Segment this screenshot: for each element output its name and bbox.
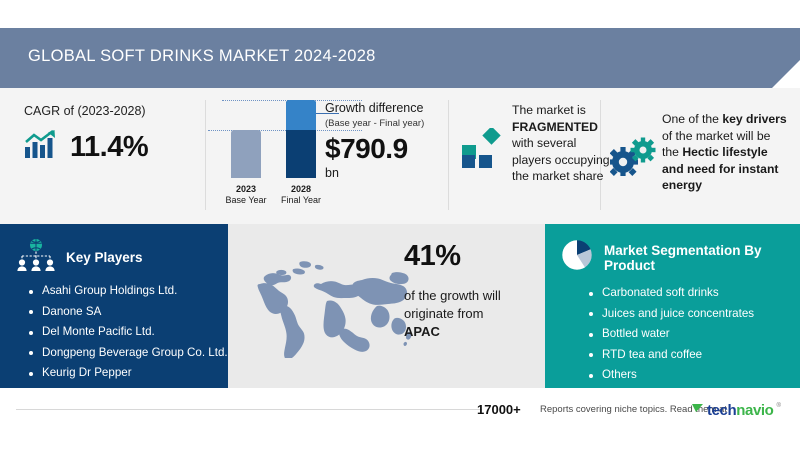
list-item: Carbonated soft drinks [588,283,754,304]
bar-final-year [286,100,316,178]
list-item: Dongpeng Beverage Group Co. Ltd. [28,343,228,364]
segmentation-list: Carbonated soft drinks Juices and juice … [588,283,754,386]
growth-bar-chart: 2023 Base Year 2028 Final Year [222,100,342,208]
list-item: Others [588,365,754,386]
key-players-title: Key Players [66,250,143,265]
footer-divider [16,409,482,410]
list-item: Danone SA [28,302,228,323]
cagr-label: CAGR of (2023-2028) [24,104,146,118]
bar-growth-segment [286,100,316,130]
logo-text-navio: navio [736,402,773,419]
list-item: Keurig Dr Pepper [28,363,228,384]
key-drivers-text: One of the key drivers of the market wil… [662,111,787,194]
bar-final-caption: 2028 Final Year [272,184,330,206]
apac-description: of the growth will originate from APAC [404,287,534,341]
list-item: Asahi Group Holdings Ltd. [28,281,228,302]
logo-text-tech: tech [707,402,736,419]
cagr-block: 11.4% [24,130,148,165]
growth-difference-label: Growth difference (Base year - Final yea… [325,101,424,131]
list-item: Del Monte Pacific Ltd. [28,322,228,343]
bar-chart-growth-icon [24,130,58,165]
cagr-value: 11.4% [70,131,148,164]
bar-base-year [231,130,261,178]
growth-difference-unit: bn [325,166,339,180]
list-item: Bottled water [588,324,754,345]
apac-percent: 41% [404,240,461,273]
list-item: RTD tea and coffee [588,345,754,366]
fragmented-squares-icon [462,128,504,170]
org-globe-icon [16,238,56,277]
infographic-canvas: GLOBAL SOFT DRINKS MARKET 2024-2028 CAGR… [0,0,800,450]
list-item: Juices and juice concentrates [588,304,754,325]
segmentation-header: Market Segmentation By Product [560,238,764,277]
report-count: 17000+ [477,402,521,417]
page-title: GLOBAL SOFT DRINKS MARKET 2024-2028 [28,47,376,66]
segmentation-title: Market Segmentation By Product [604,243,764,273]
logo-arrow-icon [692,401,704,419]
fragmented-text: The market is FRAGMENTED with several pl… [512,102,620,185]
growth-difference-value: $790.9 [325,133,408,165]
gears-icon [610,136,656,176]
divider-2 [448,100,449,210]
pie-chart-icon [560,238,594,277]
logo-trademark: ® [776,403,780,409]
world-map [246,258,421,358]
key-players-header: Key Players [16,238,143,277]
bar-base-caption: 2023 Base Year [217,184,275,206]
technavio-logo[interactable]: tech navio ® [692,401,781,419]
key-players-list: Asahi Group Holdings Ltd. Danone SA Del … [28,281,228,384]
divider-1 [205,100,206,210]
